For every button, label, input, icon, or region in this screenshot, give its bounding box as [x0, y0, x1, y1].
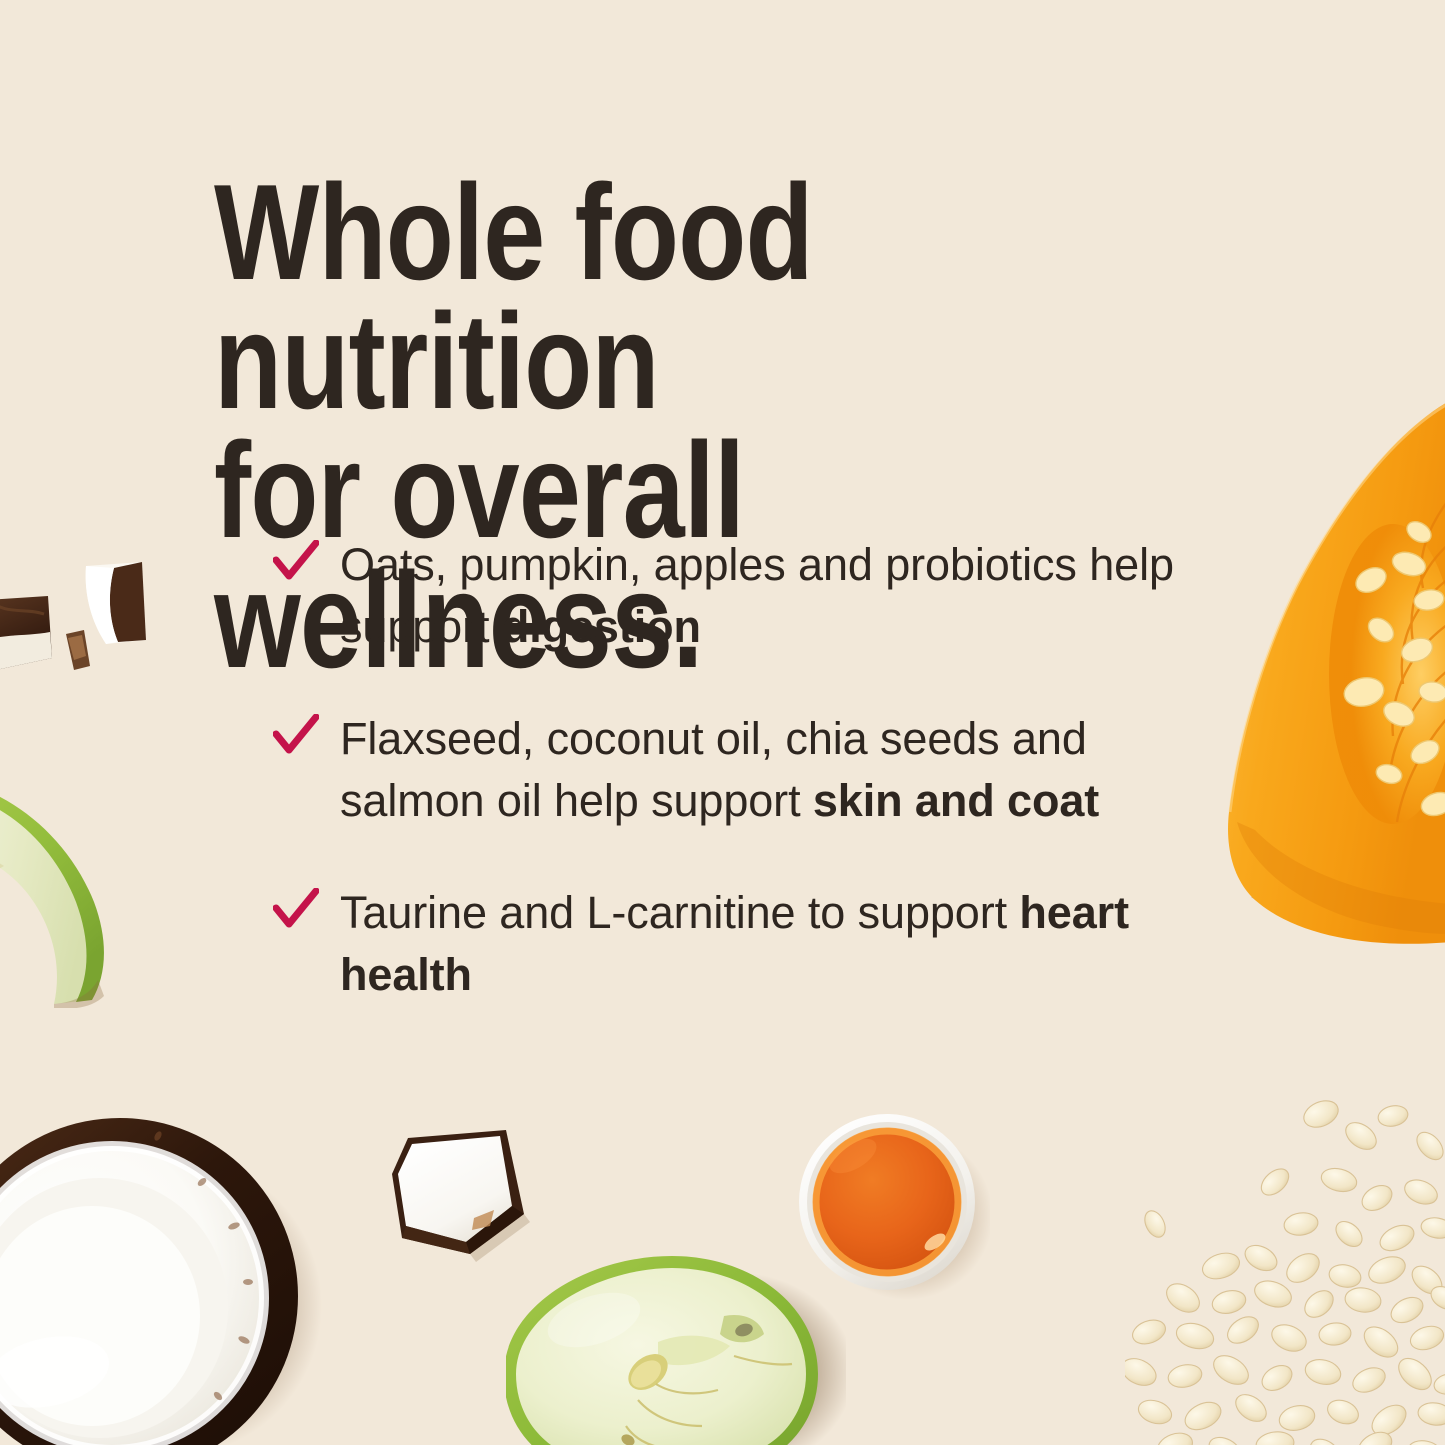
benefits-list: Oats, pumpkin, apples and probiotics hel… [265, 534, 1205, 1007]
benefit-text: Taurine and L-carnitine to support heart… [340, 887, 1129, 1000]
promo-panel: Whole food nutrition for overall wellnes… [0, 0, 1445, 1445]
coconut-shards-image [0, 548, 170, 698]
benefit-text: Flaxseed, coconut oil, chia seeds and sa… [340, 713, 1099, 826]
benefit-emphasis: digestion [502, 601, 701, 652]
apple-wedge-image [0, 768, 148, 1008]
check-icon [273, 714, 319, 760]
benefit-item-digestion: Oats, pumpkin, apples and probiotics hel… [265, 534, 1205, 658]
benefit-plain-text: Taurine and L-carnitine to support [340, 887, 1019, 938]
check-icon [273, 540, 319, 586]
benefit-text: Oats, pumpkin, apples and probiotics hel… [340, 539, 1174, 652]
apple-half-image [506, 1250, 846, 1445]
salmon-oil-bowl-image [795, 1108, 990, 1303]
rolled-oats-image [1125, 1088, 1445, 1445]
benefit-item-skin-and-coat: Flaxseed, coconut oil, chia seeds and sa… [265, 708, 1205, 832]
benefit-item-heart-health: Taurine and L-carnitine to support heart… [265, 882, 1205, 1006]
coconut-half-image [0, 1096, 322, 1445]
coconut-chunk-image [378, 1122, 543, 1262]
check-icon [273, 888, 319, 934]
benefit-emphasis: skin and coat [813, 775, 1099, 826]
benefit-plain-text: Oats, pumpkin, apples and probiotics hel… [340, 539, 1174, 652]
pumpkin-half-image [1221, 392, 1445, 952]
